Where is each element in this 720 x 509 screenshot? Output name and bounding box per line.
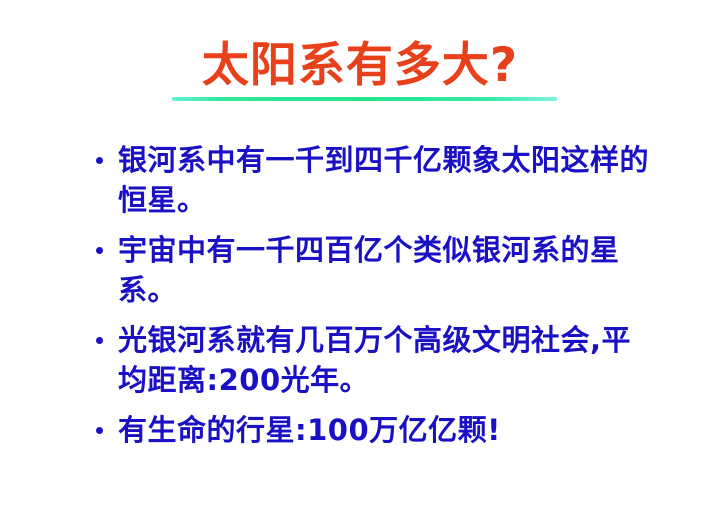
presentation-slide: 太阳系有多大? 银河系中有一千到四千亿颗象太阳这样的恒星。 宇宙中有一千四百亿个… bbox=[0, 0, 720, 509]
bullet-list: 银河系中有一千到四千亿颗象太阳这样的恒星。 宇宙中有一千四百亿个类似银河系的星系… bbox=[92, 140, 652, 450]
title-underline-divider bbox=[172, 97, 557, 101]
title-block: 太阳系有多大? bbox=[0, 40, 720, 92]
bullet-dot-icon bbox=[96, 247, 103, 254]
bullet-dot-icon bbox=[96, 337, 103, 344]
page-title: 太阳系有多大? bbox=[202, 40, 518, 92]
bullet-dot-icon bbox=[96, 157, 103, 164]
list-item: 宇宙中有一千四百亿个类似银河系的星系。 bbox=[92, 230, 652, 310]
list-item-label: 宇宙中有一千四百亿个类似银河系的星系。 bbox=[118, 230, 652, 310]
list-item-label: 光银河系就有几百万个高级文明社会,平均距离:200光年。 bbox=[118, 320, 652, 400]
list-item-label: 有生命的行星:100万亿亿颗! bbox=[118, 410, 652, 450]
bullet-dot-icon bbox=[96, 427, 103, 434]
list-item-label: 银河系中有一千到四千亿颗象太阳这样的恒星。 bbox=[118, 140, 652, 220]
list-item: 光银河系就有几百万个高级文明社会,平均距离:200光年。 bbox=[92, 320, 652, 400]
list-item: 有生命的行星:100万亿亿颗! bbox=[92, 410, 652, 450]
list-item: 银河系中有一千到四千亿颗象太阳这样的恒星。 bbox=[92, 140, 652, 220]
